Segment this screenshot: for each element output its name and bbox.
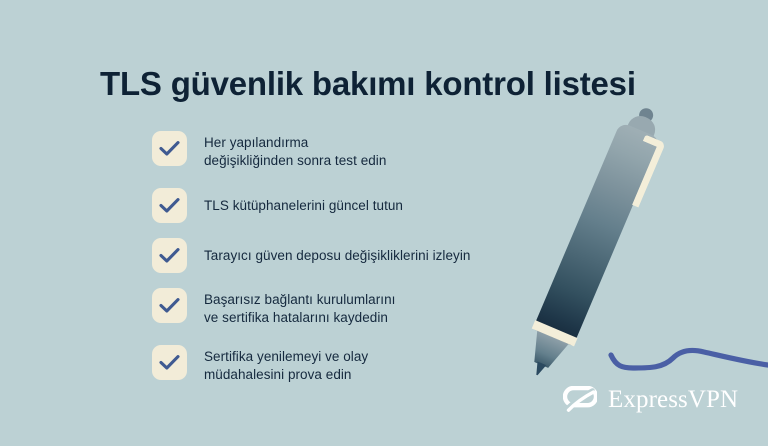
check-icon: [159, 354, 180, 371]
check-icon: [159, 297, 180, 314]
list-item-label: Her yapılandırma değişikliğinden sonra t…: [204, 131, 386, 170]
checkbox-checked[interactable]: [152, 238, 187, 273]
brand-logo[interactable]: ExpressVPN: [563, 386, 738, 414]
checkbox-checked[interactable]: [152, 288, 187, 323]
list-item: Başarısız bağlantı kurulumlarını ve sert…: [152, 288, 395, 327]
list-item-label: Sertifika yenilemeyi ve olay müdahalesin…: [204, 345, 368, 384]
brand-name: ExpressVPN: [608, 387, 738, 413]
check-icon: [159, 247, 180, 264]
list-item-label: Tarayıcı güven deposu değişikliklerini i…: [204, 238, 470, 265]
list-item: TLS kütüphanelerini güncel tutun: [152, 188, 403, 223]
poster-canvas: TLS güvenlik bakımı kontrol listesi Her …: [0, 0, 768, 446]
list-item: Tarayıcı güven deposu değişikliklerini i…: [152, 238, 470, 273]
checkbox-checked[interactable]: [152, 345, 187, 380]
checkbox-checked[interactable]: [152, 188, 187, 223]
list-item: Her yapılandırma değişikliğinden sonra t…: [152, 131, 386, 170]
checkbox-checked[interactable]: [152, 131, 187, 166]
ink-line-icon: [470, 100, 768, 400]
list-item-label: Başarısız bağlantı kurulumlarını ve sert…: [204, 288, 395, 327]
list-item: Sertifika yenilemeyi ve olay müdahalesin…: [152, 345, 368, 384]
check-icon: [159, 197, 180, 214]
pen-illustration: [470, 100, 768, 400]
expressvpn-logo-icon: [563, 386, 597, 414]
list-item-label: TLS kütüphanelerini güncel tutun: [204, 188, 403, 215]
check-icon: [159, 140, 180, 157]
